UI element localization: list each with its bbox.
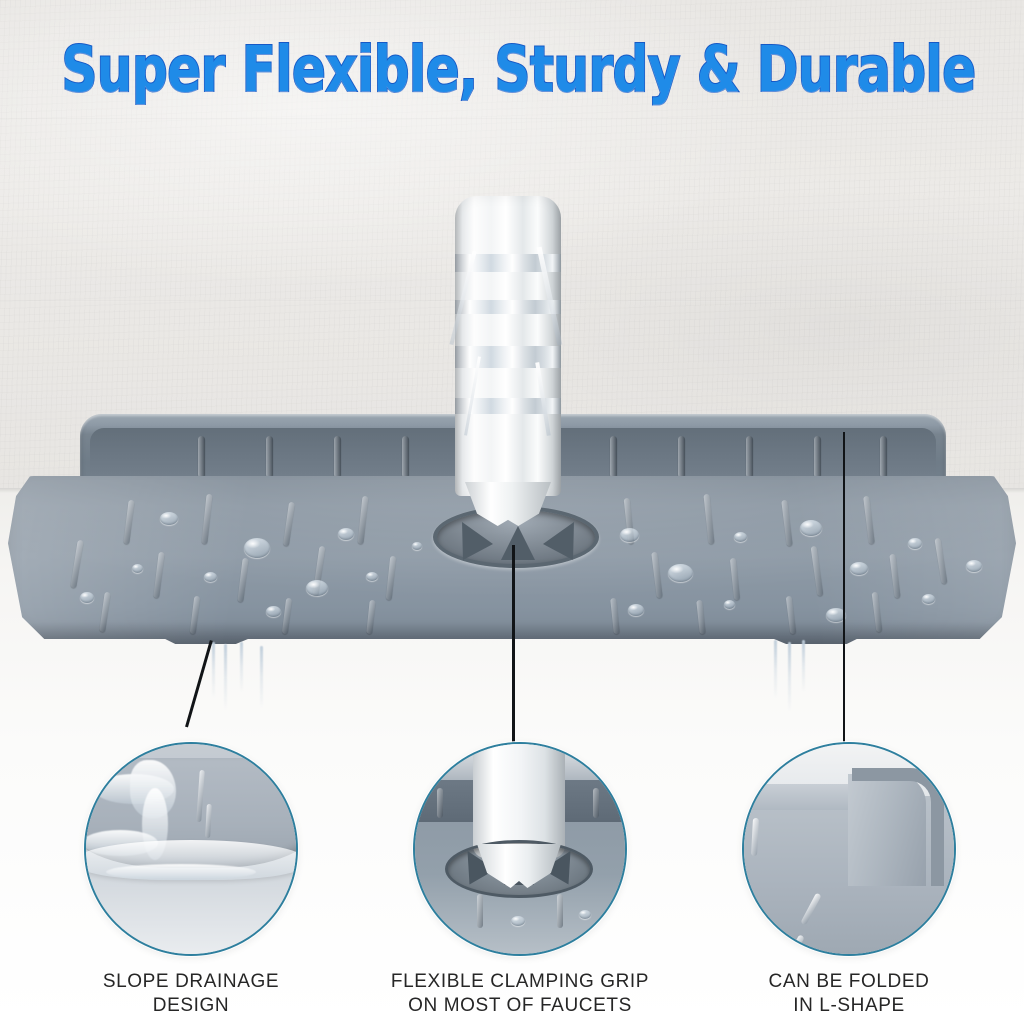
water-droplet — [80, 592, 94, 603]
callout-circle-slope-drainage — [84, 742, 298, 956]
water-droplet — [734, 532, 747, 542]
lip-ridge-nub — [610, 436, 617, 478]
water-droplet — [204, 572, 217, 582]
caption-folded-l-shape: CAN BE FOLDED IN L-SHAPE — [719, 970, 979, 1018]
water-trickle — [788, 642, 791, 712]
faucet-chrome-reflection — [455, 346, 561, 368]
lip-ridge-nub — [814, 436, 821, 478]
callout2-water-droplet — [511, 916, 525, 926]
water-droplet — [244, 538, 270, 558]
lip-ridge-nub — [746, 436, 753, 478]
water-droplet — [850, 562, 868, 575]
callout2-ridge-nub — [593, 788, 599, 818]
callout3-fold-bend — [852, 768, 944, 886]
water-droplet — [338, 528, 354, 540]
callout-circle-clamping-grip — [413, 742, 627, 956]
water-droplet — [922, 594, 935, 604]
water-droplet — [366, 572, 378, 581]
water-trickle — [260, 646, 263, 708]
pointer-line-clamping-grip — [512, 545, 515, 750]
wall-seam — [0, 118, 1024, 120]
callout2-ridge-nub — [557, 894, 563, 928]
water-droplet — [800, 520, 822, 536]
lip-ridge-nub — [880, 436, 887, 478]
callout2-ridge-nub — [437, 788, 443, 818]
water-trickle — [774, 640, 777, 698]
caption-slope-drainage: SLOPE DRAINAGE DESIGN — [61, 970, 321, 1018]
water-droplet — [966, 560, 982, 572]
water-droplet — [724, 600, 735, 609]
water-droplet — [266, 606, 281, 617]
lip-ridge-nub — [334, 436, 341, 478]
water-droplet — [306, 580, 328, 596]
lip-ridge-nub — [402, 436, 409, 478]
water-droplet — [160, 512, 178, 525]
water-droplet — [132, 564, 143, 573]
faucet-base-foot — [465, 482, 551, 526]
callout1-water-film — [106, 864, 256, 880]
water-droplet — [908, 538, 922, 549]
pointer-line-folded-l-shape — [843, 432, 845, 747]
water-trickle — [224, 644, 227, 710]
callout2-water-droplet — [579, 910, 591, 919]
water-droplet — [668, 564, 693, 582]
product-infographic: Super Flexible, Sturdy & Durable — [0, 0, 1024, 1024]
water-trickle — [212, 642, 215, 698]
water-trickle — [802, 640, 805, 692]
water-droplet — [628, 604, 644, 616]
faucet-chrome-reflection — [455, 300, 561, 314]
page-title: Super Flexible, Sturdy & Durable — [61, 36, 962, 104]
water-trickle — [240, 642, 243, 692]
water-droplet — [412, 542, 422, 550]
callout2-ridge-nub — [477, 894, 483, 928]
caption-clamping-grip: FLEXIBLE CLAMPING GRIP ON MOST OF FAUCET… — [372, 970, 668, 1018]
lip-ridge-nub — [198, 436, 205, 478]
lip-ridge-nub — [266, 436, 273, 478]
water-droplet — [620, 528, 639, 542]
clamp-leaf — [501, 526, 535, 560]
chrome-faucet — [447, 196, 569, 526]
callout-circle-folded-l-shape — [742, 742, 956, 956]
lip-ridge-nub — [678, 436, 685, 478]
